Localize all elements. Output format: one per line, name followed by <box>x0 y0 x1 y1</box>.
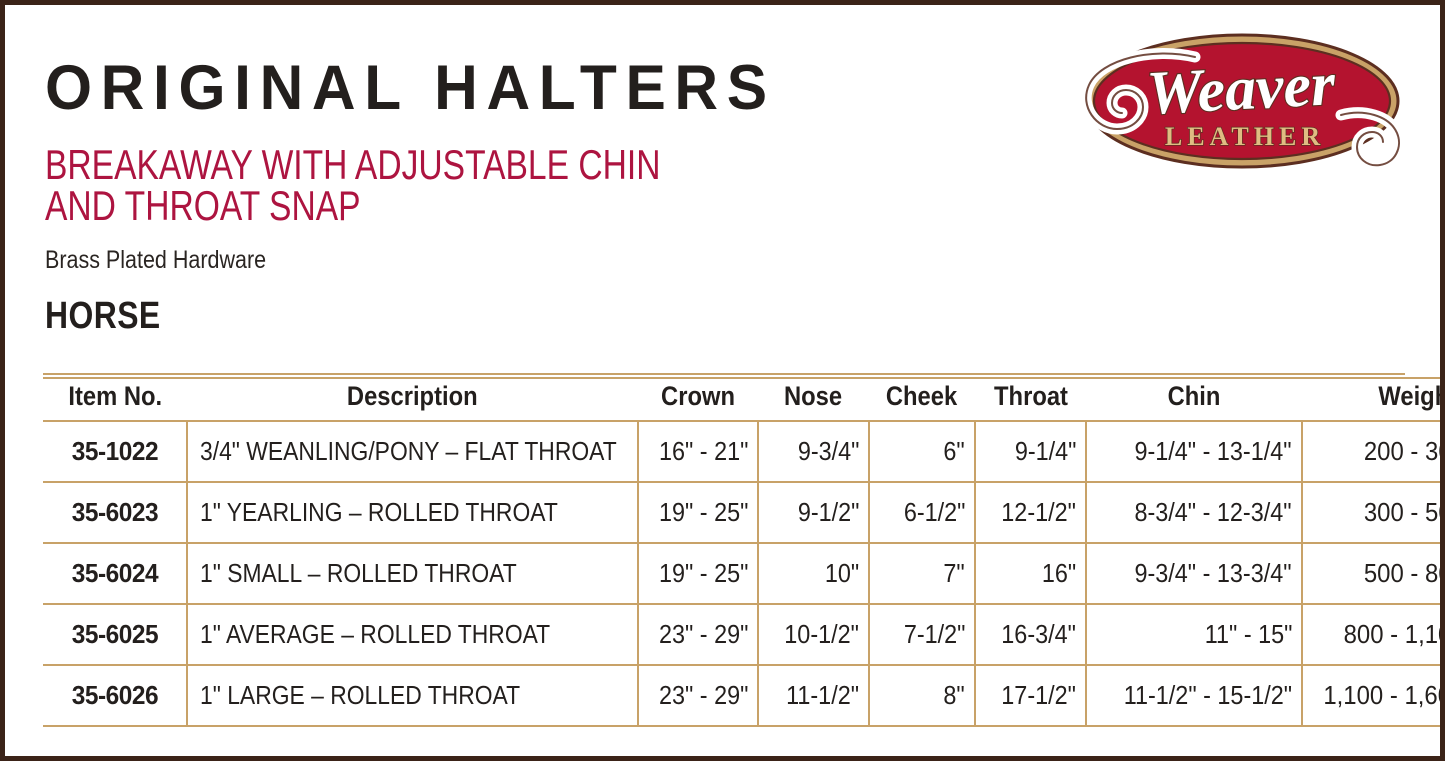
page-inner: ORIGINAL HALTERS BREAKAWAY WITH ADJUSTAB… <box>5 5 1440 756</box>
product-subtitle: BREAKAWAY WITH ADJUSTABLE CHIN AND THROA… <box>45 144 701 226</box>
header-text-block: ORIGINAL HALTERS BREAKAWAY WITH ADJUSTAB… <box>45 57 865 338</box>
cell-throat: 16" <box>975 543 1086 604</box>
cell-throat: 16-3/4" <box>975 604 1086 665</box>
cell-nose: 9-3/4" <box>758 421 869 482</box>
column-header-weight: Weight <box>1302 378 1445 421</box>
spec-sheet-page: ORIGINAL HALTERS BREAKAWAY WITH ADJUSTAB… <box>0 0 1445 761</box>
cell-weight: 500 - 800 LBS. <box>1302 543 1445 604</box>
cell-nose: 10-1/2" <box>758 604 869 665</box>
cell-item-no: 35-6023 <box>43 482 187 543</box>
cell-chin: 11" - 15" <box>1086 604 1302 665</box>
cell-weight: 200 - 300 LBS. <box>1302 421 1445 482</box>
cell-description: 1" AVERAGE – ROLLED THROAT <box>187 604 638 665</box>
cell-cheek: 7" <box>869 543 975 604</box>
cell-crown: 19" - 25" <box>638 543 758 604</box>
column-header-cheek: Cheek <box>869 378 975 421</box>
cell-crown: 23" - 29" <box>638 665 758 726</box>
table-header-row: Item No. Description Crown Nose Cheek Th… <box>43 378 1445 421</box>
cell-item-no: 35-6024 <box>43 543 187 604</box>
table-header: Item No. Description Crown Nose Cheek Th… <box>43 378 1445 421</box>
cell-cheek: 6-1/2" <box>869 482 975 543</box>
cell-weight: 300 - 500 LBS. <box>1302 482 1445 543</box>
cell-nose: 9-1/2" <box>758 482 869 543</box>
cell-crown: 16" - 21" <box>638 421 758 482</box>
cell-description: 3/4" WEANLING/PONY – FLAT THROAT <box>187 421 638 482</box>
cell-item-no: 35-6026 <box>43 665 187 726</box>
table-row: 35-6026 1" LARGE – ROLLED THROAT 23" - 2… <box>43 665 1445 726</box>
cell-cheek: 7-1/2" <box>869 604 975 665</box>
cell-item-no: 35-1022 <box>43 421 187 482</box>
hardware-note: Brass Plated Hardware <box>45 246 750 275</box>
cell-item-no: 35-6025 <box>43 604 187 665</box>
cell-crown: 23" - 29" <box>638 604 758 665</box>
column-header-item-no: Item No. <box>43 378 187 421</box>
category-heading: HORSE <box>45 295 734 338</box>
cell-throat: 17-1/2" <box>975 665 1086 726</box>
cell-nose: 10" <box>758 543 869 604</box>
category-divider-rule <box>43 373 1405 375</box>
cell-throat: 9-1/4" <box>975 421 1086 482</box>
specifications-table: Item No. Description Crown Nose Cheek Th… <box>43 377 1445 727</box>
weaver-leather-logo: Weaver LEATHER <box>1067 23 1417 179</box>
column-header-description: Description <box>187 378 638 421</box>
cell-chin: 8-3/4" - 12-3/4" <box>1086 482 1302 543</box>
cell-weight: 800 - 1,100 LBS. <box>1302 604 1445 665</box>
cell-nose: 11-1/2" <box>758 665 869 726</box>
cell-cheek: 8" <box>869 665 975 726</box>
cell-description: 1" YEARLING – ROLLED THROAT <box>187 482 638 543</box>
cell-description: 1" LARGE – ROLLED THROAT <box>187 665 638 726</box>
cell-chin: 11-1/2" - 15-1/2" <box>1086 665 1302 726</box>
table-body: 35-1022 3/4" WEANLING/PONY – FLAT THROAT… <box>43 421 1445 726</box>
column-header-nose: Nose <box>758 378 869 421</box>
logo-brand-text: Weaver <box>1145 50 1337 128</box>
cell-cheek: 6" <box>869 421 975 482</box>
column-header-throat: Throat <box>975 378 1086 421</box>
cell-chin: 9-1/4" - 13-1/4" <box>1086 421 1302 482</box>
table-row: 35-1022 3/4" WEANLING/PONY – FLAT THROAT… <box>43 421 1445 482</box>
cell-description: 1" SMALL – ROLLED THROAT <box>187 543 638 604</box>
subtitle-line-2: AND THROAT SNAP <box>45 185 701 226</box>
table-row: 35-6024 1" SMALL – ROLLED THROAT 19" - 2… <box>43 543 1445 604</box>
subtitle-line-1: BREAKAWAY WITH ADJUSTABLE CHIN <box>45 141 660 188</box>
column-header-crown: Crown <box>638 378 758 421</box>
column-header-chin: Chin <box>1086 378 1302 421</box>
cell-chin: 9-3/4" - 13-3/4" <box>1086 543 1302 604</box>
table-row: 35-6023 1" YEARLING – ROLLED THROAT 19" … <box>43 482 1445 543</box>
cell-throat: 12-1/2" <box>975 482 1086 543</box>
cell-weight: 1,100 - 1,600 LBS. <box>1302 665 1445 726</box>
table-row: 35-6025 1" AVERAGE – ROLLED THROAT 23" -… <box>43 604 1445 665</box>
cell-crown: 19" - 25" <box>638 482 758 543</box>
page-title: ORIGINAL HALTERS <box>45 57 832 120</box>
logo-tagline-text: LEATHER <box>1165 122 1325 151</box>
